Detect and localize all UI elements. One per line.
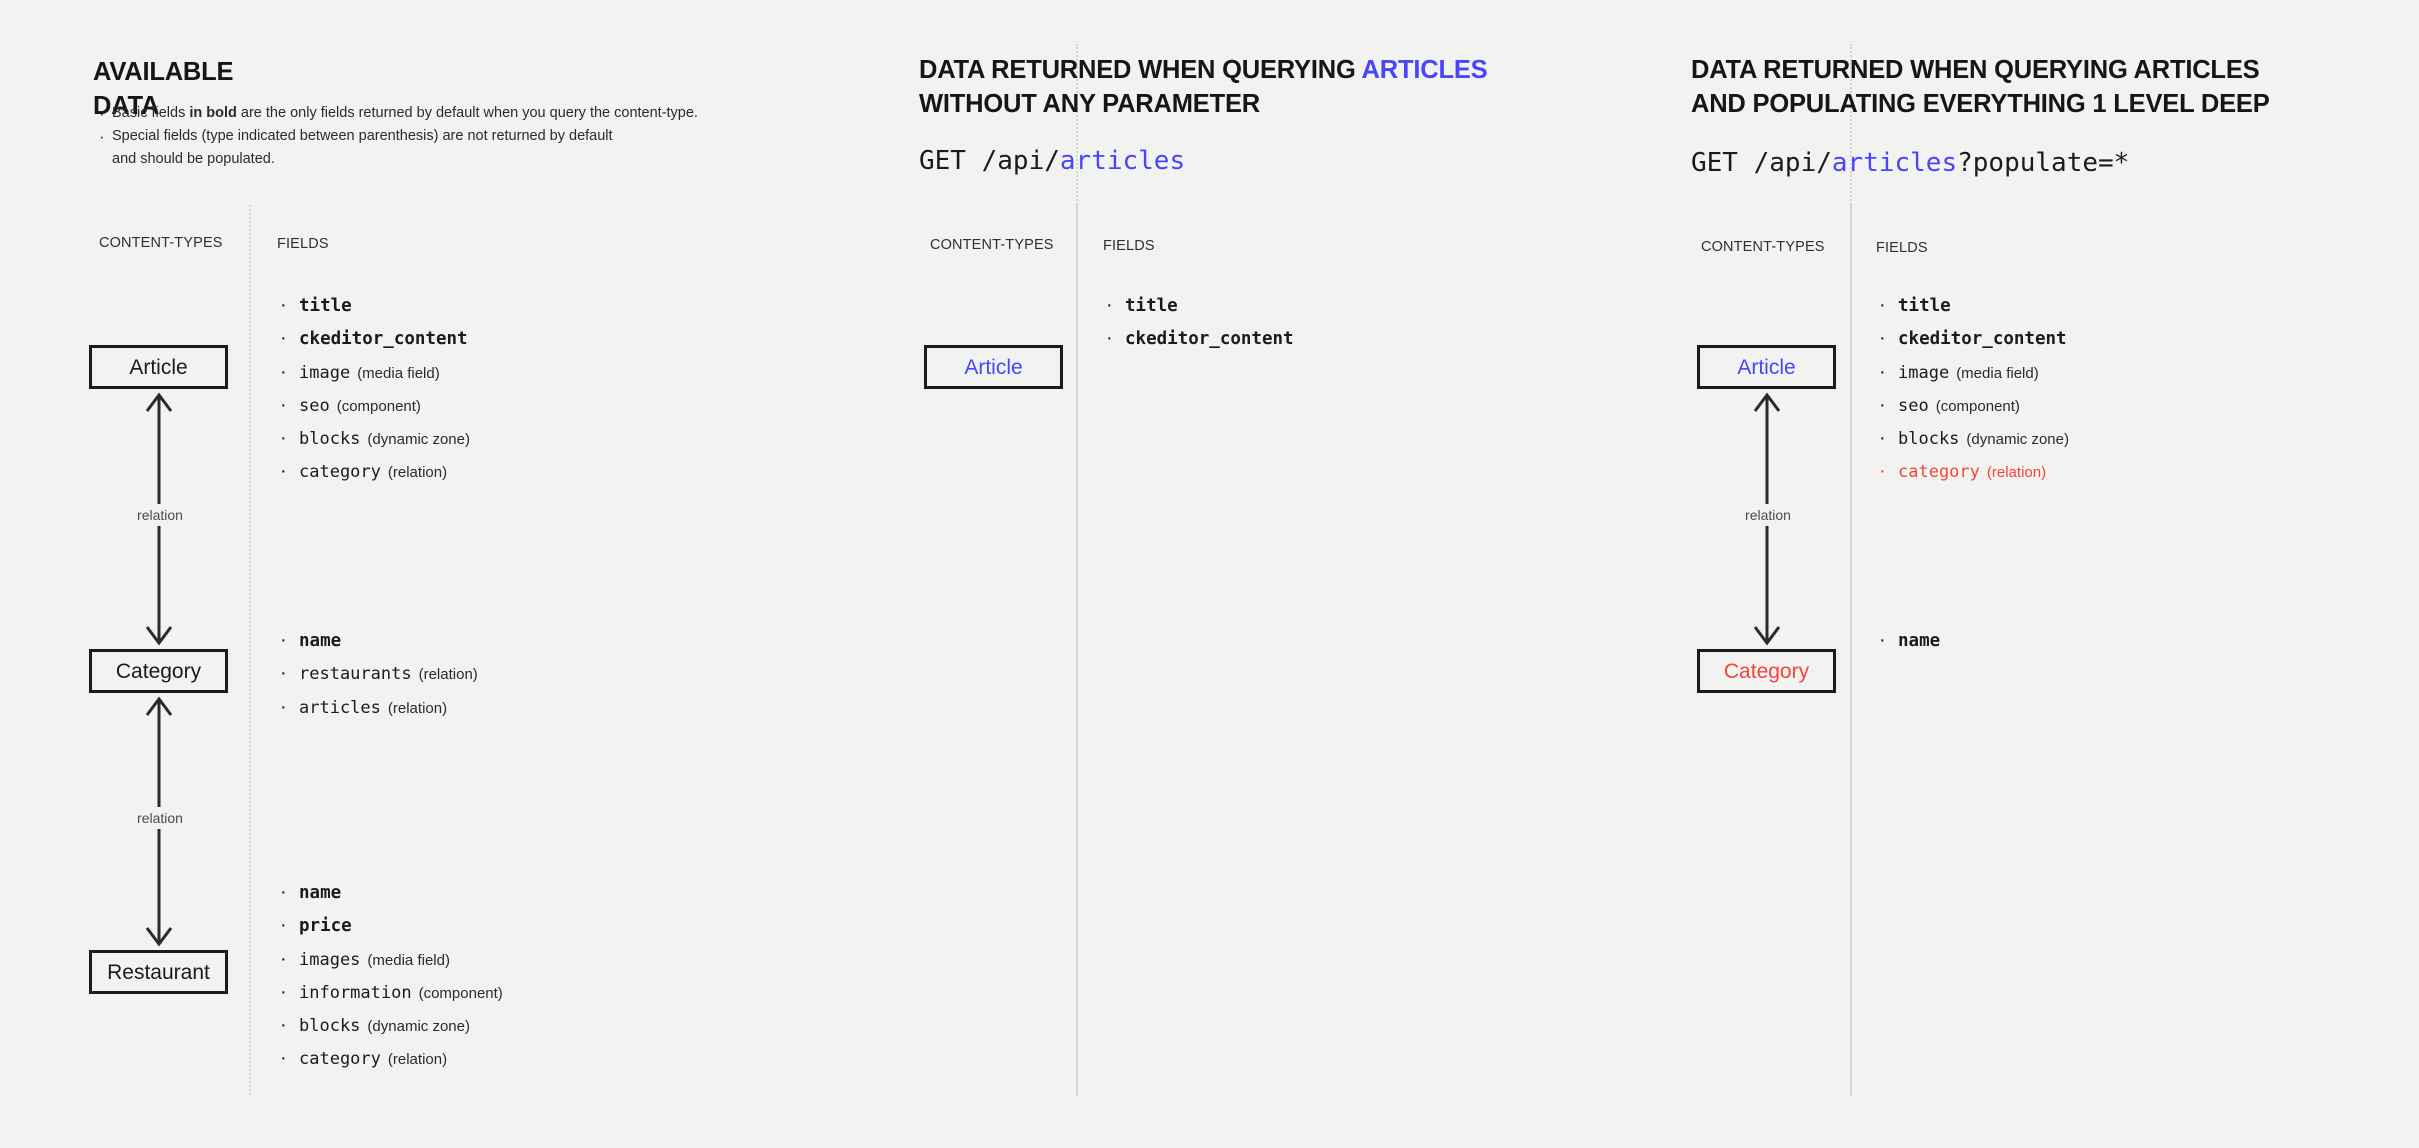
intro-2-pre: Special fields (type indicated between p… — [112, 128, 613, 144]
field-name: name — [299, 883, 341, 903]
field-name: title — [1125, 296, 1178, 316]
intro-1-bold: in bold — [189, 105, 237, 121]
field-name: category — [1898, 462, 1980, 482]
relation-label-2: relation — [132, 807, 188, 829]
field-list-article-default: title ckeditor_content — [1103, 290, 1294, 357]
panel-3-title-line1: DATA RETURNED WHEN QUERYING ARTICLES — [1691, 56, 2259, 84]
entity-label-restaurant: Restaurant — [107, 962, 210, 983]
field-item: name — [277, 625, 478, 658]
field-item: image(media field) — [277, 357, 470, 390]
panel-3-endpoint-accent: articles — [1832, 148, 1957, 178]
field-item: restaurants(relation) — [277, 658, 478, 691]
panel-2-title-line2: WITHOUT ANY PARAMETER — [919, 90, 1260, 118]
field-name: image — [1898, 363, 1949, 383]
field-name: blocks — [299, 1016, 360, 1036]
field-type: (relation) — [388, 1051, 447, 1068]
field-item: information(component) — [277, 977, 503, 1010]
field-name: blocks — [299, 429, 360, 449]
field-type: (component) — [337, 398, 421, 415]
intro-2-cont-text: and should be populated. — [112, 151, 275, 167]
relation-label-3: relation — [1740, 504, 1796, 526]
field-name: price — [299, 916, 352, 936]
field-type: (relation) — [388, 464, 447, 481]
field-name: image — [299, 363, 350, 383]
field-name: name — [1898, 631, 1940, 651]
relation-arrow-article-category-populated: relation — [1728, 389, 1808, 649]
panel-2-title: DATA RETURNED WHEN QUERYING ARTICLES WIT… — [919, 54, 1619, 122]
panel-1-col-content-types: CONTENT-TYPES — [99, 235, 223, 251]
field-item: ckeditor_content — [1876, 323, 2069, 356]
field-type: (dynamic zone) — [367, 431, 470, 448]
diagram-canvas: AVAILABLE DATA Basic fields in bold are … — [0, 0, 2419, 1148]
intro-item-2-cont: and should be populated. — [96, 149, 826, 171]
entity-box-restaurant[interactable]: Restaurant — [89, 950, 228, 994]
panel-3-inner-divider — [1850, 205, 1852, 1095]
entity-box-category-populated[interactable]: Category — [1697, 649, 1836, 693]
panel-2-col-fields: FIELDS — [1103, 238, 1155, 254]
field-list-article: title ckeditor_content image(media field… — [277, 290, 470, 490]
field-name: blocks — [1898, 429, 1959, 449]
field-type: (relation) — [1987, 464, 2046, 481]
field-item: title — [1876, 290, 2069, 323]
panel-2-inner-divider — [1076, 205, 1078, 1095]
entity-label-article: Article — [129, 357, 187, 378]
intro-1-post: are the only fields returned by default … — [237, 105, 698, 121]
field-type: (media field) — [1956, 365, 2039, 382]
entity-label-article-populated: Article — [1737, 357, 1795, 378]
field-name: ckeditor_content — [1898, 329, 2067, 349]
panel-3-col-content-types: CONTENT-TYPES — [1701, 239, 1825, 255]
field-item: ckeditor_content — [1103, 323, 1294, 356]
field-item: images(media field) — [277, 944, 503, 977]
field-type: (dynamic zone) — [1966, 431, 2069, 448]
field-name: articles — [299, 698, 381, 718]
field-item: ckeditor_content — [277, 323, 470, 356]
field-name: information — [299, 983, 412, 1003]
field-item: title — [1103, 290, 1294, 323]
field-name: seo — [1898, 396, 1929, 416]
field-type: (component) — [419, 985, 503, 1002]
field-item: articles(relation) — [277, 692, 478, 725]
field-item: category(relation) — [277, 456, 470, 489]
field-item: category(relation) — [277, 1043, 503, 1076]
panel-3-col-fields: FIELDS — [1876, 240, 1928, 256]
field-item: name — [277, 877, 503, 910]
field-item: image(media field) — [1876, 357, 2069, 390]
entity-label-article-blue: Article — [964, 357, 1022, 378]
panel-2-title-pre: DATA RETURNED WHEN QUERYING — [919, 56, 1362, 84]
field-item: seo(component) — [1876, 390, 2069, 423]
panel-2-col-content-types: CONTENT-TYPES — [930, 237, 1054, 253]
field-item-highlighted: category(relation) — [1876, 456, 2069, 489]
intro-item-2: Special fields (type indicated between p… — [96, 126, 826, 148]
entity-box-article[interactable]: Article — [89, 345, 228, 389]
field-item: blocks(dynamic zone) — [277, 1010, 503, 1043]
field-name: images — [299, 950, 360, 970]
panel-1-col-fields: FIELDS — [277, 236, 329, 252]
field-type: (dynamic zone) — [367, 1018, 470, 1035]
field-item: blocks(dynamic zone) — [1876, 423, 2069, 456]
panel-2-endpoint-pre: GET /api/ — [919, 146, 1060, 176]
panel-3-title-line2: AND POPULATING EVERYTHING 1 LEVEL DEEP — [1691, 90, 2270, 118]
field-list-restaurant: name price images(media field) informati… — [277, 877, 503, 1077]
field-name: seo — [299, 396, 330, 416]
field-list-category: name restaurants(relation) articles(rela… — [277, 625, 478, 725]
panel-3-endpoint-pre: GET /api/ — [1691, 148, 1832, 178]
field-item: seo(component) — [277, 390, 470, 423]
panel-2-endpoint-accent: articles — [1060, 146, 1185, 176]
field-type: (relation) — [388, 700, 447, 717]
panel-1-inner-divider — [249, 205, 251, 1095]
field-type: (component) — [1936, 398, 2020, 415]
field-name: title — [299, 296, 352, 316]
intro-item-1: Basic fields in bold are the only fields… — [96, 103, 826, 125]
field-list-article-populated: title ckeditor_content image(media field… — [1876, 290, 2069, 490]
field-item: title — [277, 290, 470, 323]
field-type: (relation) — [419, 666, 478, 683]
intro-1-pre: Basic fields — [112, 105, 189, 121]
entity-label-category-populated: Category — [1724, 661, 1809, 682]
panel-2-endpoint: GET /api/articles — [919, 146, 1185, 176]
panel-1-intro-list: Basic fields in bold are the only fields… — [96, 103, 826, 171]
entity-box-article-blue[interactable]: Article — [924, 345, 1063, 389]
relation-arrow-category-restaurant: relation — [120, 693, 200, 950]
field-item: price — [277, 910, 503, 943]
entity-box-article-populated[interactable]: Article — [1697, 345, 1836, 389]
field-name: category — [299, 1049, 381, 1069]
entity-box-category[interactable]: Category — [89, 649, 228, 693]
field-name: title — [1898, 296, 1951, 316]
field-type: (media field) — [367, 952, 450, 969]
entity-label-category: Category — [116, 661, 201, 682]
field-type: (media field) — [357, 365, 440, 382]
panel-3-endpoint: GET /api/articles?populate=* — [1691, 148, 2129, 178]
field-item: name — [1876, 625, 1940, 658]
relation-label-1: relation — [132, 504, 188, 526]
field-name: ckeditor_content — [299, 329, 468, 349]
panel-3-title: DATA RETURNED WHEN QUERYING ARTICLES AND… — [1691, 54, 2411, 122]
field-name: ckeditor_content — [1125, 329, 1294, 349]
panel-2-title-accent: ARTICLES — [1362, 56, 1488, 84]
field-name: name — [299, 631, 341, 651]
field-item: blocks(dynamic zone) — [277, 423, 470, 456]
relation-arrow-article-category: relation — [120, 389, 200, 649]
panel-3-endpoint-post: ?populate=* — [1957, 148, 2129, 178]
field-name: category — [299, 462, 381, 482]
field-name: restaurants — [299, 664, 412, 684]
field-list-category-populated: name — [1876, 625, 1940, 658]
